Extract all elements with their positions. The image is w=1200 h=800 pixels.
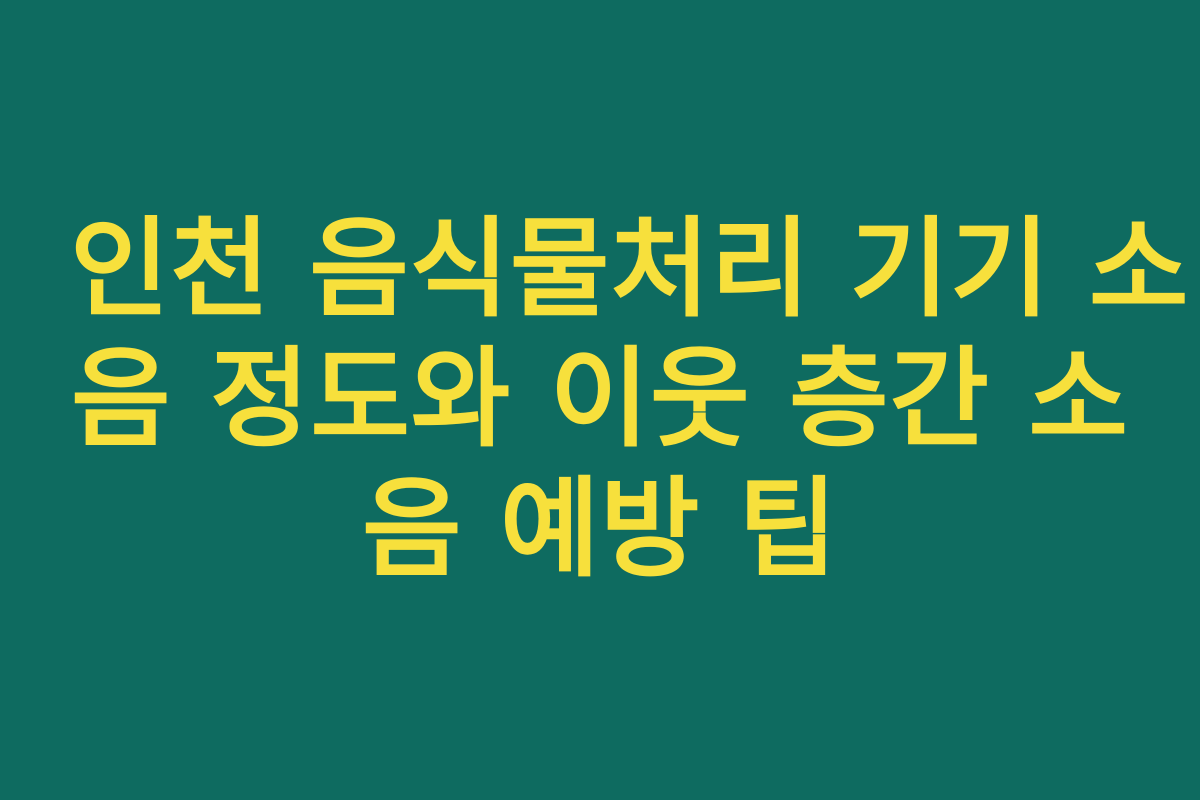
headline-text-block: 인천 음식물처리 기기 소 음 정도와 이웃 층간 소 음 예방 팁 xyxy=(70,205,1130,595)
headline-line-3: 음 예방 팁 xyxy=(70,465,1130,595)
headline-line-2: 음 정도와 이웃 층간 소 xyxy=(70,335,1130,465)
headline-line-1: 인천 음식물처리 기기 소 xyxy=(70,205,1130,335)
banner-canvas: 인천 음식물처리 기기 소 음 정도와 이웃 층간 소 음 예방 팁 xyxy=(0,0,1200,800)
